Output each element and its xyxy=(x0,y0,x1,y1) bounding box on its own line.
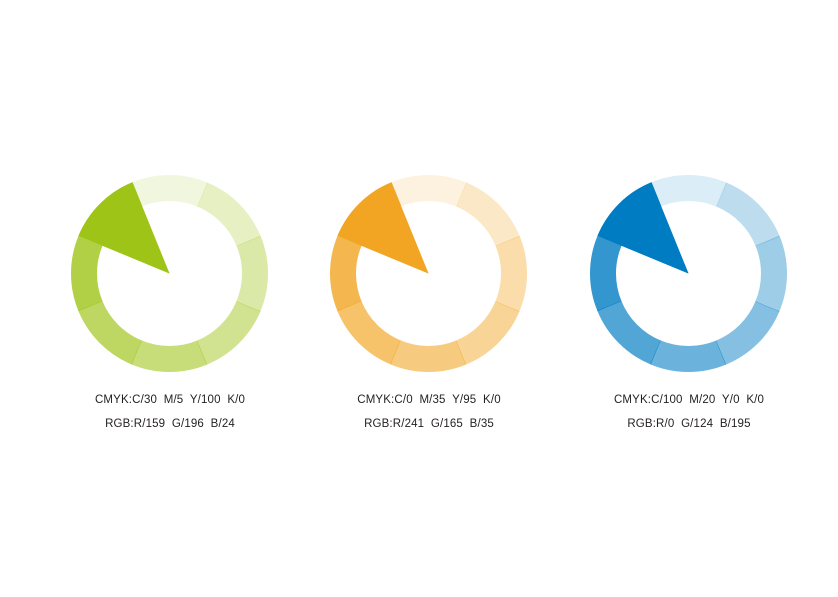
ring-segment-2 xyxy=(197,182,261,246)
color-palette-canvas: CMYK:C/30 M/5 Y/100 K/0RGB:R/159 G/196 B… xyxy=(0,0,838,597)
ring-segment-2 xyxy=(716,182,780,246)
color-wheel-svg xyxy=(330,175,527,372)
color-swatch-green: CMYK:C/30 M/5 Y/100 K/0RGB:R/159 G/196 B… xyxy=(30,0,310,460)
ring-segment-1 xyxy=(391,175,467,207)
ring-segment-3 xyxy=(495,236,527,312)
ring-segment-6 xyxy=(337,301,401,365)
ring-segment-4 xyxy=(197,301,261,365)
ring-segment-6 xyxy=(78,301,142,365)
ring-segment-7 xyxy=(330,235,362,311)
ring-segment-4 xyxy=(456,301,520,365)
ring-segment-7 xyxy=(590,235,622,311)
ring-segment-6 xyxy=(597,301,661,365)
ring-segment-5 xyxy=(650,340,726,372)
color-wheel-orange xyxy=(330,175,527,372)
color-spec-green: CMYK:C/30 M/5 Y/100 K/0RGB:R/159 G/196 B… xyxy=(30,388,310,436)
ring-segment-2 xyxy=(456,182,520,246)
cmyk-label: CMYK:C/30 M/5 Y/100 K/0 xyxy=(30,388,310,412)
color-spec-orange: CMYK:C/0 M/35 Y/95 K/0RGB:R/241 G/165 B/… xyxy=(289,388,569,436)
rgb-label: RGB:R/241 G/165 B/35 xyxy=(289,412,569,436)
color-wheel-svg xyxy=(71,175,268,372)
rgb-label: RGB:R/159 G/196 B/24 xyxy=(30,412,310,436)
ring-segment-3 xyxy=(755,236,787,312)
color-swatch-blue: CMYK:C/100 M/20 Y/0 K/0RGB:R/0 G/124 B/1… xyxy=(549,0,829,460)
ring-segment-1 xyxy=(651,175,727,207)
ring-segment-3 xyxy=(236,236,268,312)
ring-segment-4 xyxy=(716,301,780,365)
ring-segment-1 xyxy=(132,175,208,207)
color-wheel-blue xyxy=(590,175,787,372)
rgb-label: RGB:R/0 G/124 B/195 xyxy=(549,412,829,436)
cmyk-label: CMYK:C/100 M/20 Y/0 K/0 xyxy=(549,388,829,412)
color-wheel-green xyxy=(71,175,268,372)
ring-segment-5 xyxy=(131,340,207,372)
color-spec-blue: CMYK:C/100 M/20 Y/0 K/0RGB:R/0 G/124 B/1… xyxy=(549,388,829,436)
ring-segment-5 xyxy=(390,340,466,372)
color-swatch-orange: CMYK:C/0 M/35 Y/95 K/0RGB:R/241 G/165 B/… xyxy=(289,0,569,460)
ring-segment-7 xyxy=(71,235,103,311)
cmyk-label: CMYK:C/0 M/35 Y/95 K/0 xyxy=(289,388,569,412)
color-wheel-svg xyxy=(590,175,787,372)
